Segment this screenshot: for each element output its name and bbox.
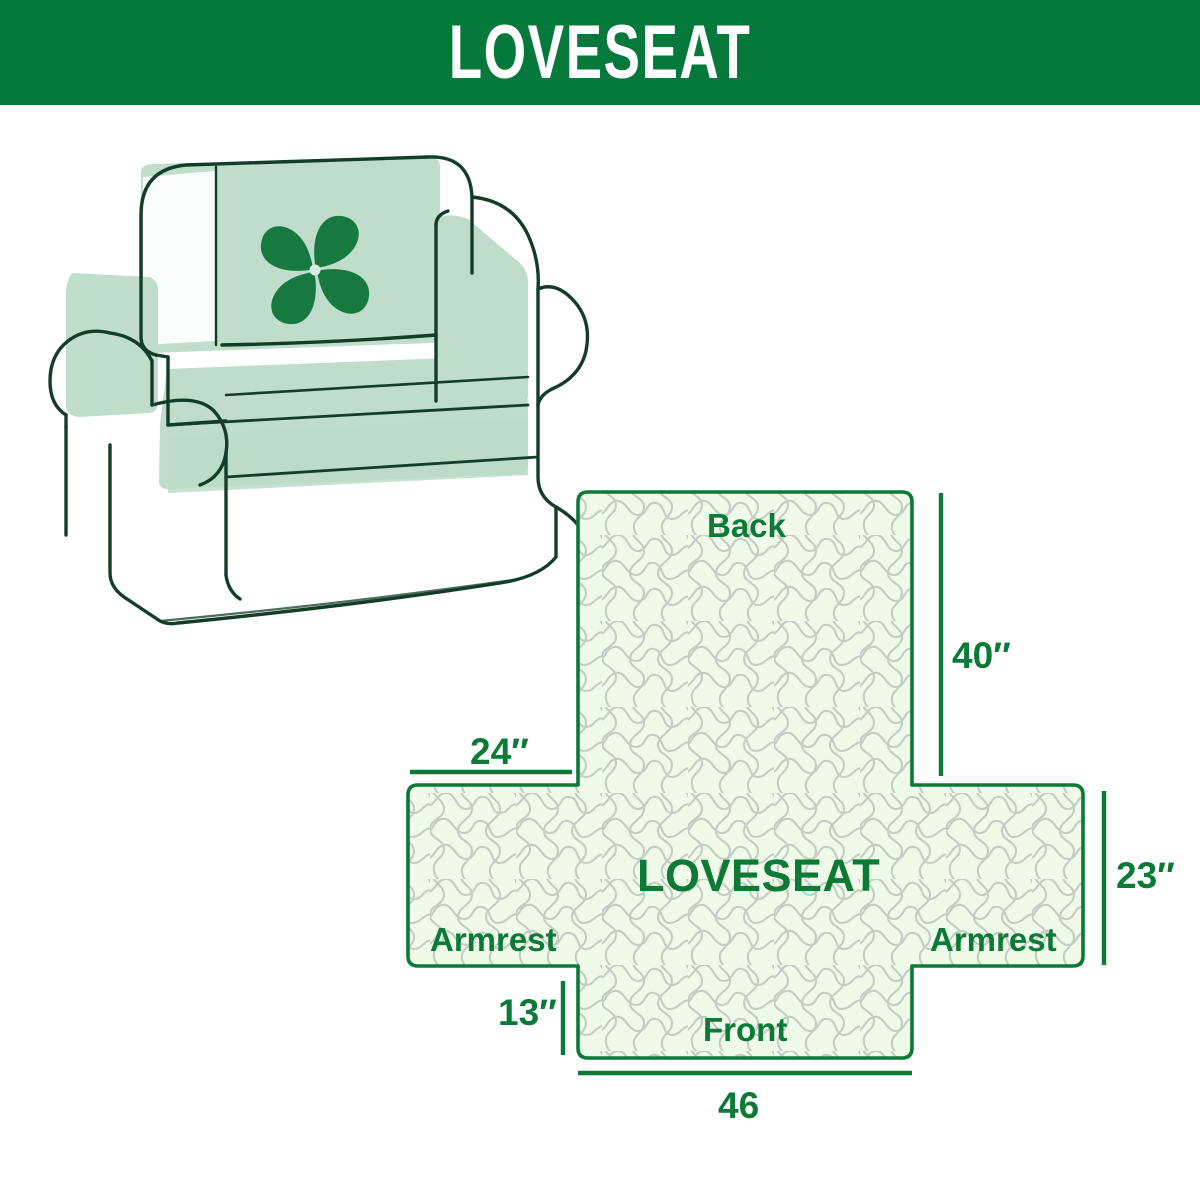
panel-label-back: Back <box>707 509 786 542</box>
cover-layout-shape <box>408 492 1083 1058</box>
diagram-artwork <box>0 105 1200 1200</box>
page-title: LOVESEAT <box>449 15 751 91</box>
dimension-label-seat-depth: 23″ <box>1116 857 1175 894</box>
header-banner: LOVESEAT <box>0 0 1200 105</box>
dimension-label-back-height: 40″ <box>952 637 1011 674</box>
panel-label-armrest-left: Armrest <box>430 923 557 956</box>
loveseat-illustration <box>50 157 588 624</box>
dimension-label-overall-width: 46 <box>718 1087 759 1124</box>
diagram-stage: Back LOVESEAT Armrest Armrest Front 40″ … <box>0 105 1200 1200</box>
panel-label-armrest-right: Armrest <box>930 923 1057 956</box>
dimension-label-front-height: 13″ <box>498 994 557 1031</box>
dimension-label-back-inset: 24″ <box>470 733 529 770</box>
panel-label-front: Front <box>703 1013 787 1046</box>
panel-label-center: LOVESEAT <box>637 853 880 898</box>
